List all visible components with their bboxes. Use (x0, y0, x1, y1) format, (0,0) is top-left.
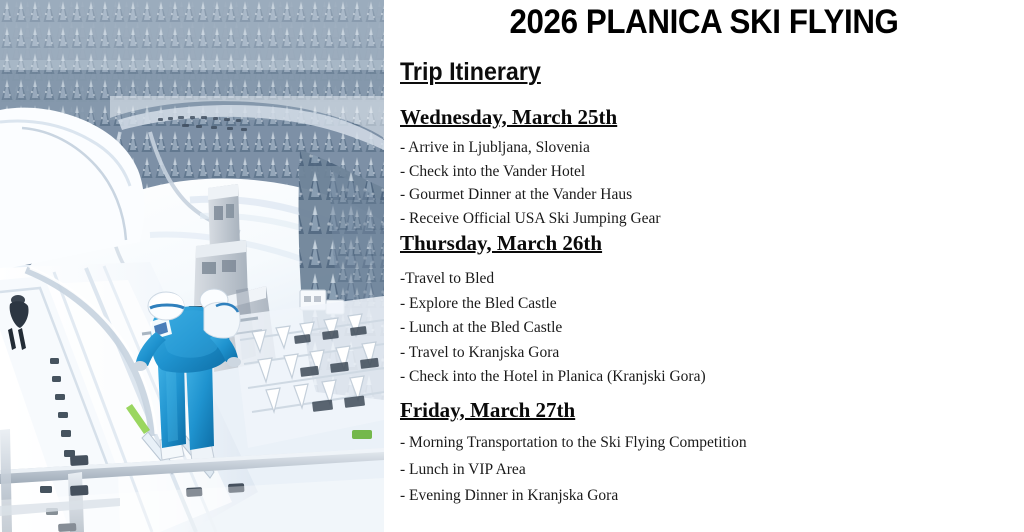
day-heading-friday: Friday, March 27th (400, 398, 747, 423)
day-heading-thursday: Thursday, March 26th (400, 231, 706, 256)
itinerary-panel: 2026 PLANICA SKI FLYING Trip Itinerary W… (384, 0, 1024, 532)
itinerary-day-friday: Friday, March 27th - Morning Transportat… (400, 398, 747, 510)
day-heading-wednesday: Wednesday, March 25th (400, 105, 661, 130)
itinerary-day-thursday: Thursday, March 26th -Travel to Bled - E… (400, 231, 706, 390)
list-item: - Lunch in VIP Area (400, 457, 747, 484)
list-item: - Lunch at the Bled Castle (400, 316, 706, 341)
itinerary-day-wednesday: Wednesday, March 25th - Arrive in Ljublj… (400, 105, 661, 230)
day-items-wednesday: - Arrive in Ljubljana, Slovenia - Check … (400, 136, 661, 230)
day-items-friday: - Morning Transportation to the Ski Flyi… (400, 430, 747, 510)
list-item: - Check into the Vander Hotel (400, 160, 661, 184)
section-heading-trip-itinerary: Trip Itinerary (400, 57, 541, 87)
page-title: 2026 PLANICA SKI FLYING (410, 2, 999, 42)
list-item: - Travel to Kranjska Gora (400, 341, 706, 366)
list-item: - Evening Dinner in Kranjska Gora (400, 483, 747, 510)
list-item: - Arrive in Ljubljana, Slovenia (400, 136, 661, 160)
presentation-slide: 2026 PLANICA SKI FLYING Trip Itinerary W… (0, 0, 1024, 532)
list-item: - Morning Transportation to the Ski Flyi… (400, 430, 747, 457)
list-item: - Check into the Hotel in Planica (Kranj… (400, 365, 706, 390)
list-item: -Travel to Bled (400, 267, 706, 292)
list-item: - Gourmet Dinner at the Vander Haus (400, 183, 661, 207)
day-items-thursday: -Travel to Bled - Explore the Bled Castl… (400, 267, 706, 390)
list-item: - Receive Official USA Ski Jumping Gear (400, 207, 661, 231)
list-item: - Explore the Bled Castle (400, 292, 706, 317)
planica-ski-jump-photo (0, 0, 384, 532)
